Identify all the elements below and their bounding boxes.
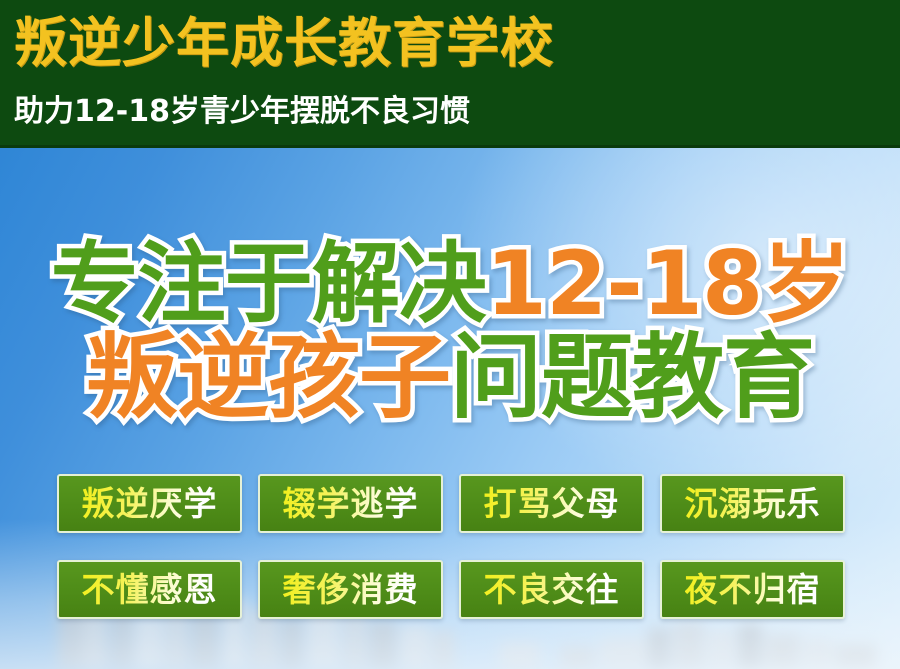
hero-line2-green-text: 问题教育 (450, 324, 814, 431)
tag-label: 打骂父母 (484, 486, 620, 522)
hero-line2-orange-text: 叛逆孩子 (86, 324, 450, 431)
hero-headline-line-1: 专注于解决12-18岁 (0, 236, 900, 332)
tag-label: 不懂感恩 (82, 572, 218, 608)
header-bar: 叛逆少年成长教育学校 助力12-18岁青少年摆脱不良习惯 (0, 0, 900, 148)
tag-label: 沉溺玩乐 (685, 486, 821, 522)
tag-label: 辍学逃学 (283, 486, 419, 522)
tag-item[interactable]: 不懂感恩 (57, 560, 242, 619)
tag-item[interactable]: 不良交往 (459, 560, 644, 619)
tag-item[interactable]: 沉溺玩乐 (660, 474, 845, 533)
hero-headline-line-2: 叛逆孩子问题教育 (0, 328, 900, 428)
problem-tag-grid: 叛逆厌学 辍学逃学 打骂父母 沉溺玩乐 不懂感恩 奢侈消费 不良交往 夜不归宿 (57, 474, 847, 619)
tag-item[interactable]: 夜不归宿 (660, 560, 845, 619)
tag-label: 叛逆厌学 (82, 486, 218, 522)
tag-label: 不良交往 (484, 572, 620, 608)
hero-line1-green-text: 专注于解决 (51, 232, 486, 335)
page-subtitle: 助力12-18岁青少年摆脱不良习惯 (14, 92, 470, 132)
tag-item[interactable]: 辍学逃学 (258, 474, 443, 533)
tag-label: 夜不归宿 (685, 572, 821, 608)
poster-root: 叛逆少年成长教育学校 助力12-18岁青少年摆脱不良习惯 (0, 0, 900, 669)
tag-item[interactable]: 奢侈消费 (258, 560, 443, 619)
tag-item[interactable]: 打骂父母 (459, 474, 644, 533)
hero-line1-orange-text: 12-18岁 (486, 232, 849, 335)
hero-headline: 专注于解决12-18岁 叛逆孩子问题教育 (0, 236, 900, 428)
page-title: 叛逆少年成长教育学校 (14, 8, 554, 80)
tag-item[interactable]: 叛逆厌学 (57, 474, 242, 533)
tag-label: 奢侈消费 (283, 572, 419, 608)
